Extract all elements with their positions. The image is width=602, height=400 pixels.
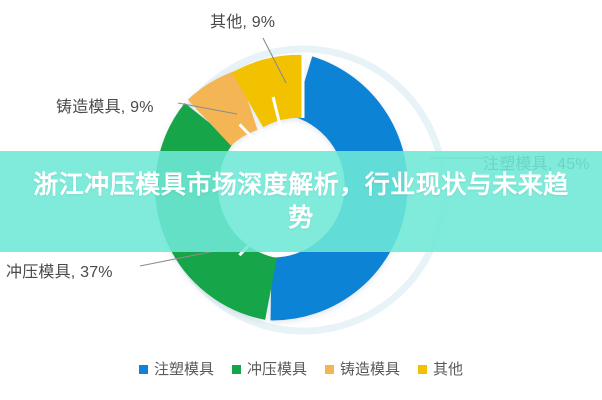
legend-swatch-icon <box>325 365 334 374</box>
legend-label: 注塑模具 <box>154 362 214 377</box>
legend-swatch-icon <box>232 365 241 374</box>
data-label-stamping-mould: 冲压模具, 37% <box>6 258 113 282</box>
title-overlay-band: 浙江冲压模具市场深度解析，行业现状与未来趋势 <box>0 151 602 252</box>
slice-other[interactable] <box>248 86 303 100</box>
legend-item-other[interactable]: 其他 <box>418 362 463 377</box>
page-title: 浙江冲压模具市场深度解析，行业现状与未来趋势 <box>26 169 576 235</box>
legend-label: 铸造模具 <box>340 362 400 377</box>
legend-swatch-icon <box>139 365 148 374</box>
legend-label: 冲压模具 <box>247 362 307 377</box>
legend-item-casting-mould[interactable]: 铸造模具 <box>325 362 400 377</box>
legend-label: 其他 <box>433 362 463 377</box>
chart-legend: 注塑模具 冲压模具 铸造模具 其他 <box>0 362 602 377</box>
slice-casting-mould[interactable] <box>209 100 247 123</box>
data-label-casting-mould: 铸造模具, 9% <box>56 93 154 117</box>
legend-swatch-icon <box>418 365 427 374</box>
legend-item-stamping-mould[interactable]: 冲压模具 <box>232 362 307 377</box>
data-label-other: 其他, 9% <box>210 8 275 32</box>
chart-screenshot: 其他, 9% 铸造模具, 9% 冲压模具, 37% 注塑模具, 45% 注塑模具… <box>0 0 602 400</box>
legend-item-injection-mould[interactable]: 注塑模具 <box>139 362 214 377</box>
